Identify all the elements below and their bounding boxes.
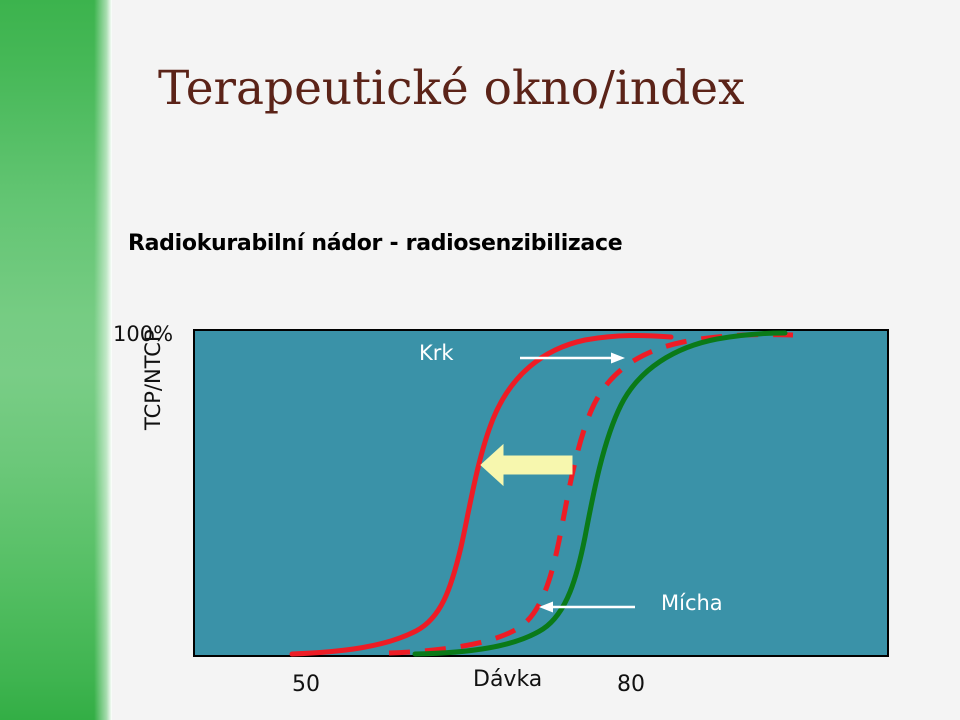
- chart-plot-area: Krk Mícha: [193, 329, 889, 657]
- page-title: Terapeutické okno/index: [158, 61, 745, 116]
- x-axis-tick-50: 50: [292, 672, 320, 697]
- curve-krk-dashed: [389, 335, 793, 653]
- slide-canvas: Terapeutické okno/index Radiokurabilní n…: [0, 0, 960, 720]
- x-axis-tick-80: 80: [617, 672, 645, 697]
- x-axis-title: Dávka: [473, 667, 542, 692]
- curve-label-krk: Krk: [419, 341, 454, 365]
- dose-shift-arrow-icon: [481, 445, 572, 485]
- chart-heading: Radiokurabilní nádor - radiosenzibilizac…: [128, 231, 622, 256]
- curves-svg: [193, 329, 889, 657]
- y-axis-title: TCP/NTCP: [141, 329, 165, 430]
- decorative-green-sidebar: [0, 0, 112, 720]
- micha-pointer-icon: [539, 602, 635, 613]
- curve-label-micha: Mícha: [661, 591, 723, 615]
